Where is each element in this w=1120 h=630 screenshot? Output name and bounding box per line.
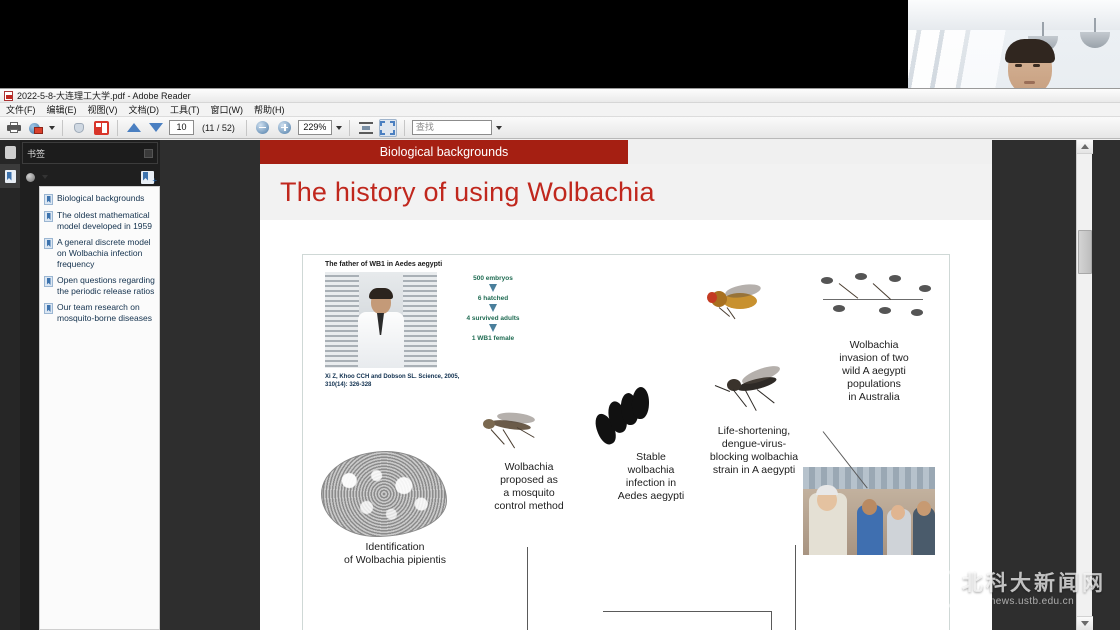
menu-item-edit[interactable]: 编辑(E) xyxy=(47,103,77,116)
mosquito-eggs-illustration xyxy=(595,387,651,447)
mosquito-biting-illustration xyxy=(707,365,795,417)
figure-label-proposed: Wolbachiaproposed asa mosquitocontrol me… xyxy=(473,461,585,513)
sign-document-icon xyxy=(94,121,109,135)
toolbar-separator xyxy=(62,120,63,136)
chevron-down-icon[interactable] xyxy=(336,126,342,130)
bookmarks-list[interactable]: Biological backgrounds The oldest mathem… xyxy=(39,186,160,630)
options-gear-icon[interactable] xyxy=(26,172,39,183)
embryo-yield-chain: 500 embryos 6 hatched 4 survived adults … xyxy=(453,275,533,344)
chain-step-label: 1 WB1 female xyxy=(453,335,533,342)
toolbar-separator xyxy=(404,120,405,136)
email-dropdown-icon[interactable] xyxy=(49,126,55,130)
slide-section-banner: Biological backgrounds xyxy=(260,140,992,164)
bookmark-item[interactable]: A general discrete model on Wolbachia in… xyxy=(44,237,155,270)
slide-title-text: The history of using Wolbachia xyxy=(280,177,655,208)
toolbar-separator xyxy=(246,120,247,136)
toolbar-separator xyxy=(349,120,350,136)
zoom-out-button[interactable] xyxy=(254,119,272,137)
menu-item-file[interactable]: 文件(F) xyxy=(6,103,36,116)
screen: 庾建设 2022-5-8-大连理工大学.pdf - Adobe Reader 文… xyxy=(0,0,1120,630)
webcam-ceiling xyxy=(908,0,1120,30)
figure-label-identification: Identificationof Wolbachia pipientis xyxy=(309,541,481,567)
bookmark-label: Biological backgrounds xyxy=(57,193,144,204)
email-document-icon xyxy=(29,122,43,134)
pdf-file-icon xyxy=(4,91,13,101)
adobe-reader-window: 2022-5-8-大连理工大学.pdf - Adobe Reader 文件(F)… xyxy=(0,88,1120,630)
bookmarks-panel-title: 书签 xyxy=(27,147,45,160)
arrow-down-icon xyxy=(489,284,497,292)
history-figure: The father of WB1 in Aedes aegypti Xi Z,… xyxy=(302,254,950,630)
banner-label: Biological backgrounds xyxy=(260,140,628,164)
printer-icon xyxy=(7,122,21,133)
bookmark-label: Our team research on mosquito-borne dise… xyxy=(57,302,155,324)
bookmarks-panel-toolbar: + xyxy=(20,166,160,188)
chain-step-label: 4 survived adults xyxy=(453,315,533,322)
scrollbar-thumb[interactable] xyxy=(1078,230,1092,274)
wolbachia-cell-illustration xyxy=(321,451,447,537)
connector-line xyxy=(795,545,796,630)
fit-width-button[interactable] xyxy=(357,119,375,137)
bookmark-item[interactable]: Our team research on mosquito-borne dise… xyxy=(44,302,155,324)
zoom-in-icon xyxy=(278,121,291,134)
page-count-label: (11 / 52) xyxy=(198,123,239,133)
arrow-up-icon xyxy=(127,123,141,132)
main-toolbar: 10 (11 / 52) 229% 查找 xyxy=(0,117,1120,139)
menu-bar: 文件(F) 编辑(E) 视图(V) 文档(D) 工具(T) 窗口(W) 帮助(H… xyxy=(0,103,1120,117)
chain-step-label: 500 embryos xyxy=(453,275,533,282)
arrow-down-icon xyxy=(149,123,163,132)
toolbar-separator xyxy=(117,120,118,136)
menu-item-window[interactable]: 窗口(W) xyxy=(211,103,244,116)
mosquito-resting-illustration xyxy=(469,409,549,453)
bookmark-icon xyxy=(44,211,53,222)
slide-title: The history of using Wolbachia xyxy=(260,164,992,220)
arrow-down-icon xyxy=(489,304,497,312)
researcher-photo xyxy=(325,272,437,368)
next-page-button[interactable] xyxy=(147,119,165,137)
menu-item-document[interactable]: 文档(D) xyxy=(129,103,160,116)
print-button[interactable] xyxy=(5,119,23,137)
connector-line xyxy=(527,547,528,630)
fruit-fly-illustration xyxy=(701,283,771,321)
bookmark-label: A general discrete model on Wolbachia in… xyxy=(57,237,155,270)
page-number-input[interactable]: 10 xyxy=(169,120,194,135)
bookmark-icon xyxy=(44,303,53,314)
document-workspace: 书签 + Biological backgrounds The oldest xyxy=(0,140,1120,630)
window-title: 2022-5-8-大连理工大学.pdf - Adobe Reader xyxy=(17,89,191,102)
navigation-rail xyxy=(0,140,20,630)
scroll-up-icon xyxy=(1081,144,1089,149)
vertical-scrollbar[interactable] xyxy=(1076,140,1092,630)
bookmarks-panel: 书签 + Biological backgrounds The oldest xyxy=(20,140,160,630)
page-thumbnails-icon xyxy=(5,146,16,159)
fullscreen-icon xyxy=(380,121,395,135)
previous-page-button[interactable] xyxy=(125,119,143,137)
connector-line xyxy=(603,611,771,612)
pdf-page: Biological backgrounds The history of us… xyxy=(260,140,992,630)
hand-tool-icon xyxy=(72,121,86,134)
window-titlebar: 2022-5-8-大连理工大学.pdf - Adobe Reader xyxy=(0,89,1120,103)
fit-width-icon xyxy=(359,122,373,134)
bookmarks-panel-titlebar: 书签 xyxy=(22,142,158,164)
menu-item-help[interactable]: 帮助(H) xyxy=(254,103,285,116)
scroll-down-button[interactable] xyxy=(1077,616,1093,630)
sign-document-button[interactable] xyxy=(92,119,110,137)
bookmark-item[interactable]: The oldest mathematical model developed … xyxy=(44,210,155,232)
hand-tool-button[interactable] xyxy=(70,119,88,137)
new-bookmark-icon[interactable]: + xyxy=(141,171,154,184)
bookmark-icon xyxy=(44,276,53,287)
page-thumbnails-button[interactable] xyxy=(0,140,20,164)
zoom-level-input[interactable]: 229% xyxy=(298,120,332,135)
arrow-down-icon xyxy=(489,324,497,332)
bookmark-label: Open questions regarding the periodic re… xyxy=(57,275,155,297)
pdf-page-area[interactable]: Biological backgrounds The history of us… xyxy=(260,140,1092,630)
bookmark-item[interactable]: Biological backgrounds xyxy=(44,193,155,205)
bookmark-icon xyxy=(44,194,53,205)
figure-label-australia: Wolbachiainvasion of twowild A aegyptipo… xyxy=(813,339,935,404)
bookmark-item[interactable]: Open questions regarding the periodic re… xyxy=(44,275,155,297)
options-dropdown-icon[interactable] xyxy=(42,175,48,179)
bookmarks-icon xyxy=(5,170,16,183)
zoom-in-button[interactable] xyxy=(276,119,294,137)
photo-caption: The father of WB1 in Aedes aegypti xyxy=(325,261,485,268)
fullscreen-button[interactable] xyxy=(379,119,397,137)
mosquito-swarm-illustration xyxy=(803,269,943,327)
scroll-down-icon xyxy=(1081,621,1089,626)
photo-citation: Xi Z, Khoo CCH and Dobson SL. Science, 2… xyxy=(325,373,475,389)
find-input[interactable]: 查找 xyxy=(412,120,492,135)
find-dropdown-icon[interactable] xyxy=(496,126,502,130)
connector-line xyxy=(771,611,772,630)
figure-label-stable: Stablewolbachiainfection inAedes aegypti xyxy=(603,451,699,503)
menu-item-tools[interactable]: 工具(T) xyxy=(170,103,200,116)
bookmarks-button[interactable] xyxy=(0,164,20,188)
zoom-out-icon xyxy=(256,121,269,134)
bookmark-label: The oldest mathematical model developed … xyxy=(57,210,155,232)
menu-item-view[interactable]: 视图(V) xyxy=(88,103,118,116)
figure-label-life-shortening: Life-shortening,dengue-virus-blocking wo… xyxy=(689,425,819,477)
panel-close-icon[interactable] xyxy=(144,149,153,158)
field-release-photo xyxy=(803,467,935,555)
bookmark-icon xyxy=(44,238,53,249)
scroll-up-button[interactable] xyxy=(1077,140,1093,154)
email-document-button[interactable] xyxy=(27,119,45,137)
chain-step-label: 6 hatched xyxy=(453,295,533,302)
